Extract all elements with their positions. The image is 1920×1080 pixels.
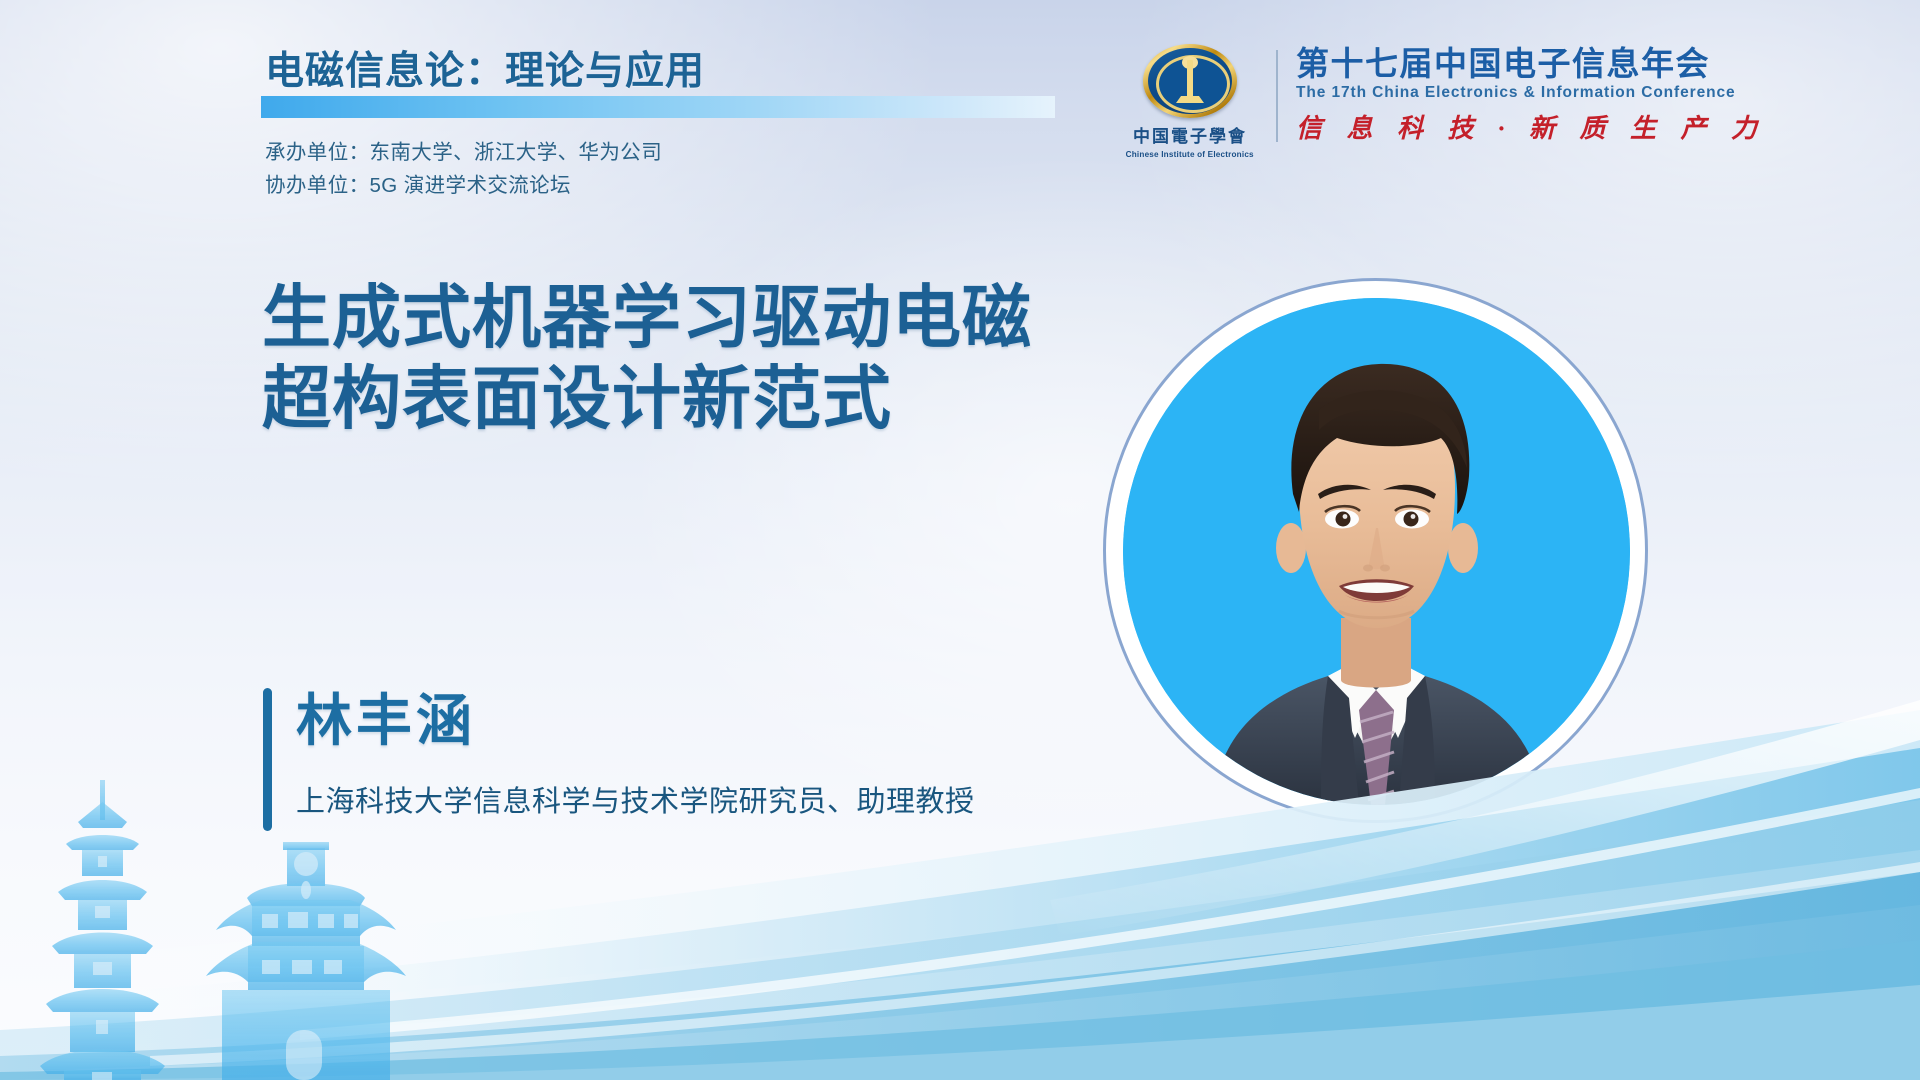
event-title-highlight-bar (261, 96, 1055, 118)
page-title: 生成式机器学习驱动电磁超构表面设计新范式 (262, 278, 1092, 439)
speaker-accent-bar (263, 688, 272, 831)
avatar (1103, 278, 1648, 823)
cie-emblem-icon (1143, 44, 1237, 118)
speaker-name: 林丰涵 (296, 676, 476, 757)
cie-name-en: Chinese Institute of Electronics (1126, 149, 1254, 159)
bottom-decoration (0, 660, 1920, 1080)
conference-name-en: The 17th China Electronics & Information… (1296, 84, 1766, 102)
coorganizer-line: 协办单位：5G 演进学术交流论坛 (265, 168, 571, 198)
cie-logo: 中国電子學會 Chinese Institute of Electronics (1120, 44, 1260, 159)
conference-logo-block: 中国電子學會 Chinese Institute of Electronics … (1120, 44, 1766, 159)
conference-slogan: 信 息 科 技 · 新 质 生 产 力 (1296, 108, 1766, 145)
presentation-slide: 电磁信息论：理论与应用 承办单位：东南大学、浙江大学、华为公司 协办单位：5G … (0, 0, 1920, 1080)
conference-text-block: 第十七届中国电子信息年会 The 17th China Electronics … (1296, 44, 1766, 145)
conference-name-cn: 第十七届中国电子信息年会 (1296, 46, 1766, 82)
organizer-line: 承办单位：东南大学、浙江大学、华为公司 (265, 135, 662, 165)
wave-ribbon-icon (0, 700, 1920, 1080)
speaker-affiliation: 上海科技大学信息科学与技术学院研究员、助理教授 (296, 778, 975, 820)
pagoda-skyline-icon (0, 780, 560, 1080)
event-title-group: 电磁信息论：理论与应用 (265, 52, 705, 91)
speaker-portrait-photo (1123, 298, 1630, 805)
event-title: 电磁信息论：理论与应用 (265, 52, 705, 91)
logo-divider (1276, 50, 1278, 142)
cie-name-cn: 中国電子學會 (1133, 122, 1247, 147)
